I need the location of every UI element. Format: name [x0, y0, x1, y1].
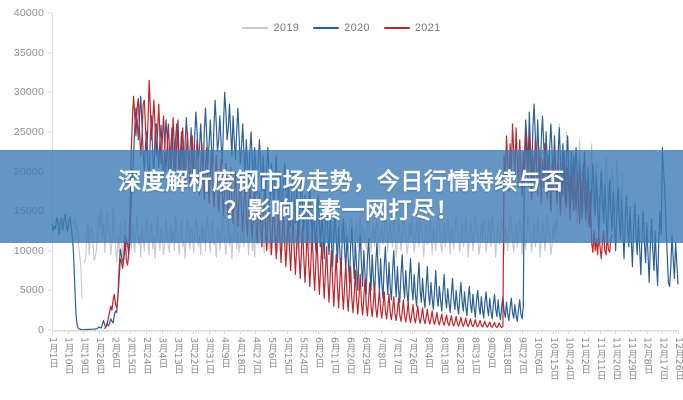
- chart-image-root: 0500010000150002000025000300003500040000…: [0, 0, 683, 400]
- x-axis-tick-label: 12月17日: [655, 337, 669, 380]
- legend-item-2020: 2020: [313, 22, 370, 34]
- y-axis-tick-mark: [48, 92, 52, 93]
- x-axis-minor-tick: [238, 330, 239, 332]
- legend-label-2021: 2021: [415, 22, 441, 34]
- y-axis-tick-mark: [48, 131, 52, 132]
- x-axis-tick-label: 1月10日: [61, 337, 75, 374]
- x-axis-tick-label: 8月22日: [452, 337, 466, 374]
- x-axis-tick-label: 10月6日: [530, 337, 544, 374]
- x-axis-minor-tick: [175, 330, 176, 332]
- y-axis-tick-mark: [48, 250, 52, 251]
- x-axis-tick-label: 9月27日: [515, 337, 529, 374]
- legend-label-2019: 2019: [273, 22, 299, 34]
- x-axis-tick-label: 2月6日: [108, 337, 122, 368]
- x-axis-tick-label: 4月18日: [233, 337, 247, 374]
- x-axis-tick-label: 1月1日: [45, 337, 59, 368]
- x-axis-tick-label: 11月29日: [624, 337, 638, 380]
- x-axis-tick-label: 10月15日: [546, 337, 560, 380]
- legend-swatch-2019: [242, 27, 268, 30]
- x-axis-tick-label: 3月13日: [170, 337, 184, 374]
- x-axis-minor-tick: [207, 330, 208, 332]
- x-axis-tick-label: 6月2日: [311, 337, 325, 368]
- legend-item-2019: 2019: [242, 22, 299, 34]
- x-axis-minor-tick: [442, 330, 443, 332]
- x-axis-tick-label: 11月2日: [577, 337, 591, 374]
- x-axis-minor-tick: [629, 330, 630, 332]
- x-axis-tick-label: 5月24日: [295, 337, 309, 374]
- x-axis-minor-tick: [567, 330, 568, 332]
- x-axis-tick-label: 9月18日: [499, 337, 513, 374]
- x-axis-minor-tick: [551, 330, 552, 332]
- x-axis-tick-label: 7月17日: [389, 337, 403, 374]
- x-axis-tick-label: 5月6日: [264, 337, 278, 368]
- x-axis-tick-label: 8月31日: [468, 337, 482, 374]
- y-axis-tick-mark: [48, 330, 52, 331]
- x-axis-tick-label: 8月13日: [436, 337, 450, 374]
- x-axis-minor-tick: [254, 330, 255, 332]
- x-axis-minor-tick: [488, 330, 489, 332]
- x-axis-minor-tick: [410, 330, 411, 332]
- x-axis-tick-label: 6月29日: [358, 337, 372, 374]
- x-axis-minor-tick: [379, 330, 380, 332]
- x-axis-tick-label: 6月20日: [342, 337, 356, 374]
- x-axis-tick-label: 3月22日: [186, 337, 200, 374]
- y-axis-tick-label: 30000: [14, 86, 44, 98]
- x-axis-tick-label: 1月19日: [76, 337, 90, 374]
- x-axis-tick-label: 3月31日: [202, 337, 216, 374]
- x-axis-minor-tick: [269, 330, 270, 332]
- x-axis-tick-label: 12月26日: [671, 337, 683, 380]
- x-axis-minor-tick: [144, 330, 145, 332]
- x-axis-tick-mark: [678, 330, 679, 334]
- legend-item-2021: 2021: [384, 22, 441, 34]
- x-axis-minor-tick: [113, 330, 114, 332]
- x-axis-minor-tick: [348, 330, 349, 332]
- banner-title-line-2: ？影响因素一网打尽！: [224, 197, 459, 225]
- y-axis-tick-label: 10000: [14, 245, 44, 257]
- x-axis-tick-label: 7月8日: [374, 337, 388, 368]
- x-axis-minor-tick: [160, 330, 161, 332]
- x-axis-tick-label: 8月4日: [421, 337, 435, 368]
- legend-label-2020: 2020: [344, 22, 370, 34]
- x-axis-tick-label: 4月27日: [248, 337, 262, 374]
- x-axis-tick-label: 9月9日: [483, 337, 497, 368]
- x-axis-minor-tick: [301, 330, 302, 332]
- title-banner-overlay: 深度解析废钢市场走势，今日行情持续与否 ？影响因素一网打尽！: [0, 150, 683, 243]
- x-axis-minor-tick: [473, 330, 474, 332]
- x-axis-minor-tick: [191, 330, 192, 332]
- x-axis-minor-tick: [82, 330, 83, 332]
- x-axis-minor-tick: [661, 330, 662, 332]
- x-axis-minor-tick: [332, 330, 333, 332]
- x-axis-minor-tick: [395, 330, 396, 332]
- y-axis-tick-mark: [48, 290, 52, 291]
- x-axis-ticks: [52, 330, 678, 336]
- x-axis-tick-label: 3月4日: [155, 337, 169, 368]
- x-axis-tick-label: 12月8日: [640, 337, 654, 374]
- x-axis-tick-label: 5月15日: [280, 337, 294, 374]
- y-axis-tick-label: 25000: [14, 126, 44, 138]
- x-axis-minor-tick: [316, 330, 317, 332]
- x-axis-tick-label: 11月11日: [593, 337, 607, 380]
- x-axis-minor-tick: [426, 330, 427, 332]
- y-axis-tick-mark: [48, 52, 52, 53]
- x-axis-tick-label: 7月26日: [405, 337, 419, 374]
- x-axis-tick-label: 2月24日: [139, 337, 153, 374]
- y-axis-tick-mark: [48, 13, 52, 14]
- chart-legend: 201920202021: [0, 22, 683, 34]
- x-axis-minor-tick: [676, 330, 677, 332]
- x-axis-labels: 1月1日1月10日1月19日1月28日2月6日2月15日2月24日3月4日3月1…: [52, 337, 678, 399]
- x-axis-minor-tick: [535, 330, 536, 332]
- x-axis-minor-tick: [582, 330, 583, 332]
- x-axis-minor-tick: [363, 330, 364, 332]
- x-axis-minor-tick: [66, 330, 67, 332]
- y-axis-tick-label: 0: [38, 324, 44, 336]
- x-axis-minor-tick: [97, 330, 98, 332]
- x-axis-tick-label: 2月15日: [123, 337, 137, 374]
- legend-swatch-2021: [384, 27, 410, 30]
- y-axis-tick-label: 5000: [20, 284, 44, 296]
- x-axis-minor-tick: [222, 330, 223, 332]
- x-axis-minor-tick: [457, 330, 458, 332]
- x-axis-minor-tick: [598, 330, 599, 332]
- x-axis-tick-label: 6月11日: [327, 337, 341, 374]
- x-axis-tick-label: 10月24日: [561, 337, 575, 380]
- x-axis-minor-tick: [504, 330, 505, 332]
- x-axis-minor-tick: [645, 330, 646, 332]
- x-axis-tick-label: 4月9日: [217, 337, 231, 368]
- y-axis-tick-label: 40000: [14, 7, 44, 19]
- x-axis-minor-tick: [520, 330, 521, 332]
- x-axis-minor-tick: [129, 330, 130, 332]
- x-axis-minor-tick: [614, 330, 615, 332]
- banner-title-line-1: 深度解析废钢市场走势，今日行情持续与否: [118, 168, 565, 196]
- x-axis-minor-tick: [285, 330, 286, 332]
- legend-swatch-2020: [313, 27, 339, 30]
- x-axis-tick-label: 1月28日: [92, 337, 106, 374]
- x-axis-tick-label: 11月20日: [608, 337, 622, 380]
- y-axis-tick-label: 35000: [14, 47, 44, 59]
